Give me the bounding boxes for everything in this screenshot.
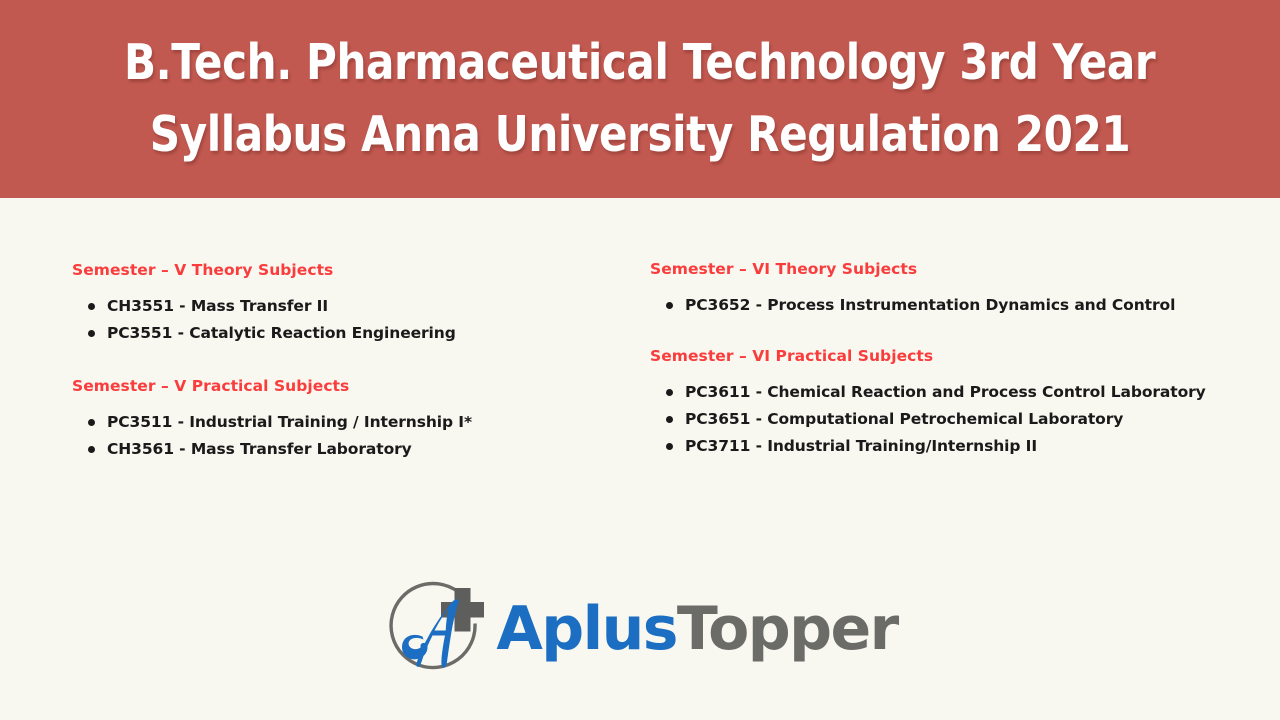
section-heading-semester-v-practical: Semester – V Practical Subjects	[72, 376, 610, 396]
semester-vi-column: Semester – VI Theory Subjects PC3652 - P…	[640, 198, 1280, 568]
bullet-icon	[88, 303, 95, 310]
list-item: PC3652 - Process Instrumentation Dynamic…	[650, 292, 1220, 319]
logo-wordmark: AplusTopper	[496, 599, 897, 659]
logo-text-aplus: Aplus	[496, 594, 676, 664]
section-heading-semester-vi-theory: Semester – VI Theory Subjects	[650, 259, 1220, 279]
bullet-icon	[666, 443, 673, 450]
list-item: PC3511 - Industrial Training / Internshi…	[72, 409, 610, 436]
bullet-icon	[88, 330, 95, 337]
site-logo: AplusTopper	[0, 566, 1280, 696]
subject-list-semester-v-practical: PC3511 - Industrial Training / Internshi…	[72, 409, 610, 463]
syllabus-page: B.Tech. Pharmaceutical Technology 3rd Ye…	[0, 0, 1280, 720]
syllabus-columns: Semester – V Theory Subjects CH3551 - Ma…	[0, 198, 1280, 568]
subject-label: PC3711 - Industrial Training/Internship …	[685, 437, 1037, 455]
subject-list-semester-vi-practical: PC3611 - Chemical Reaction and Process C…	[650, 379, 1220, 460]
logo-inner: AplusTopper	[382, 576, 897, 686]
page-header-banner: B.Tech. Pharmaceutical Technology 3rd Ye…	[0, 0, 1280, 198]
list-item: PC3611 - Chemical Reaction and Process C…	[650, 379, 1220, 406]
list-item: PC3551 - Catalytic Reaction Engineering	[72, 320, 610, 347]
list-item: CH3551 - Mass Transfer II	[72, 293, 610, 320]
bullet-icon	[88, 446, 95, 453]
bullet-icon	[666, 302, 673, 309]
subject-label: PC3652 - Process Instrumentation Dynamic…	[685, 296, 1175, 314]
bullet-icon	[666, 389, 673, 396]
subject-label: PC3611 - Chemical Reaction and Process C…	[685, 383, 1206, 401]
list-item: PC3711 - Industrial Training/Internship …	[650, 433, 1220, 460]
subject-label: CH3551 - Mass Transfer II	[107, 297, 328, 315]
subject-label: PC3511 - Industrial Training / Internshi…	[107, 413, 472, 431]
section-heading-semester-vi-practical: Semester – VI Practical Subjects	[650, 346, 1220, 366]
page-title-line-1: B.Tech. Pharmaceutical Technology 3rd Ye…	[124, 27, 1155, 99]
subject-list-semester-vi-theory: PC3652 - Process Instrumentation Dynamic…	[650, 292, 1220, 319]
bullet-icon	[666, 416, 673, 423]
subject-label: PC3651 - Computational Petrochemical Lab…	[685, 410, 1123, 428]
bullet-icon	[88, 419, 95, 426]
subject-label: CH3561 - Mass Transfer Laboratory	[107, 440, 412, 458]
aplus-circle-mark-icon	[382, 576, 492, 686]
section-heading-semester-v-theory: Semester – V Theory Subjects	[72, 260, 610, 280]
semester-v-column: Semester – V Theory Subjects CH3551 - Ma…	[0, 198, 640, 568]
logo-text-topper: Topper	[677, 594, 898, 664]
list-item: PC3651 - Computational Petrochemical Lab…	[650, 406, 1220, 433]
subject-label: PC3551 - Catalytic Reaction Engineering	[107, 324, 456, 342]
list-item: CH3561 - Mass Transfer Laboratory	[72, 436, 610, 463]
subject-list-semester-v-theory: CH3551 - Mass Transfer II PC3551 - Catal…	[72, 293, 610, 347]
page-title-line-2: Syllabus Anna University Regulation 2021	[150, 99, 1130, 171]
